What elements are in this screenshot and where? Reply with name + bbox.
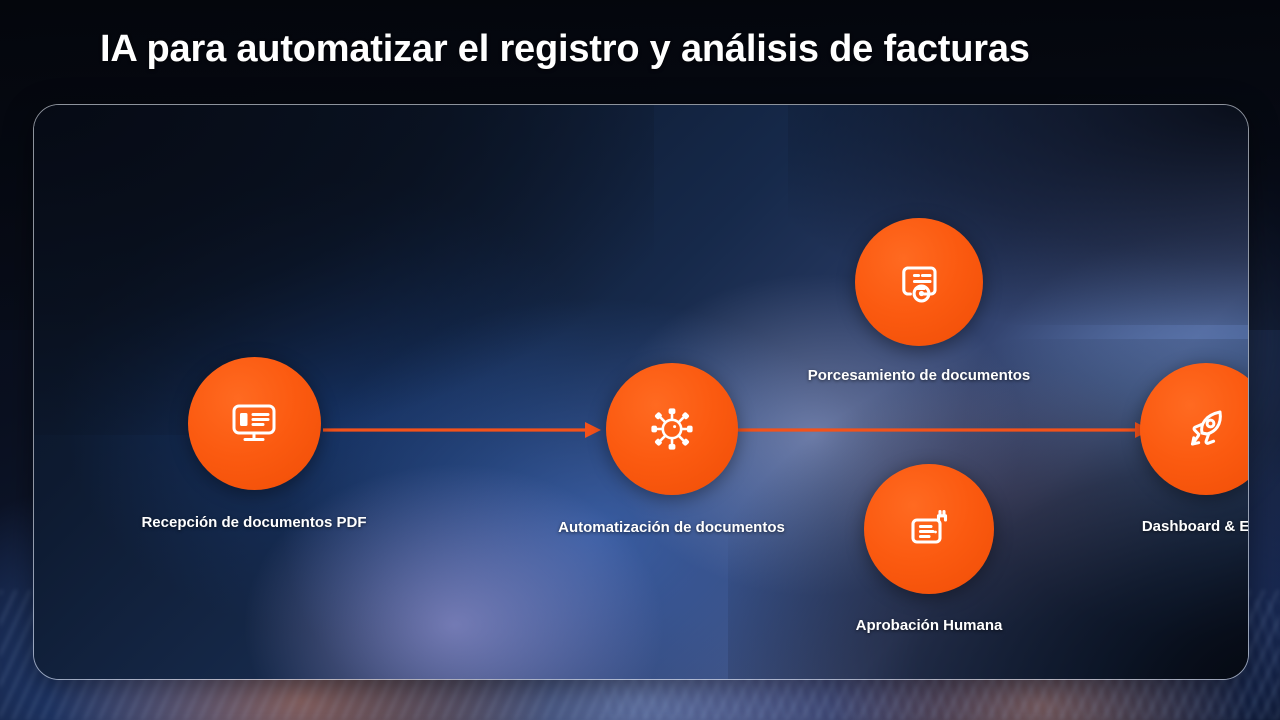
node-automation[interactable]: Automatización de documentos — [514, 363, 829, 538]
diagram-card: Recepción de documentos PDF — [33, 104, 1249, 680]
node-processing-label: Porcesamiento de documentos — [774, 366, 1064, 386]
node-reception-label: Recepción de documentos PDF — [74, 513, 434, 533]
node-dashboard-circle[interactable] — [1140, 363, 1249, 495]
node-dashboard[interactable]: Dashboard & ERP — [1099, 363, 1249, 537]
node-processing-circle[interactable] — [855, 218, 983, 346]
page-title: IA para automatizar el registro y anális… — [100, 20, 1200, 78]
rocket-icon — [1177, 400, 1235, 458]
node-automation-circle[interactable] — [606, 363, 738, 495]
hub-spokes-gear-icon — [643, 400, 701, 458]
document-stamp-icon — [900, 500, 958, 558]
monitor-document-icon — [223, 393, 285, 455]
certificate-seal-icon — [890, 253, 948, 311]
node-dashboard-label: Dashboard & ERP — [1099, 517, 1249, 537]
node-reception-circle[interactable] — [188, 357, 321, 490]
node-approval-label: Aprobación Humana — [799, 616, 1059, 636]
node-approval-circle[interactable] — [864, 464, 994, 594]
slide-root: IA para automatizar el registro y anális… — [0, 0, 1280, 720]
node-automation-label: Automatización de documentos — [514, 518, 829, 538]
node-processing[interactable]: Porcesamiento de documentos — [774, 218, 1064, 386]
node-approval[interactable]: Aprobación Humana — [799, 464, 1059, 636]
node-reception[interactable]: Recepción de documentos PDF — [74, 357, 434, 533]
